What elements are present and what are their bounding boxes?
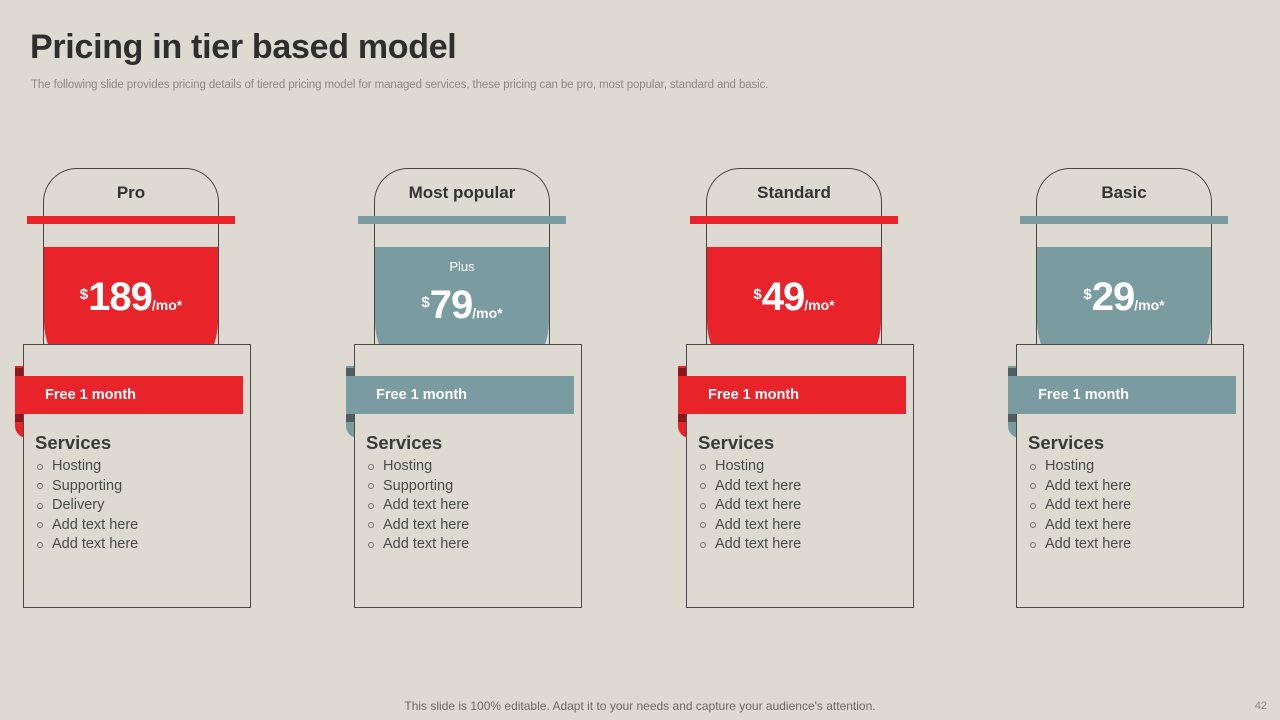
services-list: Services Hosting Supporting Delivery (35, 432, 245, 555)
footer-note: This slide is 100% editable. Adapt it to… (0, 699, 1280, 713)
price-amount: 189 (88, 275, 152, 319)
service-label: Supporting (383, 477, 453, 497)
tier-name: Standard (707, 183, 881, 203)
price-value: $29/mo* (1037, 275, 1211, 320)
pricing-card[interactable]: Basic $29/mo* Free 1 month Services (1008, 168, 1266, 608)
free-month-ribbon[interactable]: Free 1 month (1008, 376, 1236, 414)
ribbon-fold-top-icon (678, 368, 686, 376)
price-value: $79/mo* (375, 283, 549, 328)
bullet-circle-icon (700, 483, 706, 489)
services-list: Services Hosting Add text here Add text … (698, 432, 908, 555)
service-label: Hosting (383, 457, 432, 477)
bullet-circle-icon (368, 483, 374, 489)
price-currency: $ (421, 294, 429, 311)
service-label: Delivery (52, 496, 104, 516)
service-item: Hosting (366, 457, 576, 477)
free-month-ribbon[interactable]: Free 1 month (346, 376, 574, 414)
service-item: Add text here (1028, 477, 1238, 497)
ribbon-label: Free 1 month (1008, 387, 1129, 403)
service-item: Supporting (35, 477, 245, 497)
free-month-ribbon[interactable]: Free 1 month (678, 376, 906, 414)
service-label: Add text here (715, 477, 801, 497)
service-label: Add text here (1045, 516, 1131, 536)
service-label: Hosting (1045, 457, 1094, 477)
price-value: $49/mo* (707, 275, 881, 320)
service-item: Add text here (35, 535, 245, 555)
page-subtitle: The following slide provides pricing det… (31, 79, 768, 91)
service-item: Add text here (698, 496, 908, 516)
service-item: Add text here (698, 516, 908, 536)
service-label: Add text here (1045, 496, 1131, 516)
bullet-circle-icon (368, 522, 374, 528)
service-item: Hosting (35, 457, 245, 477)
page-number: 42 (1255, 700, 1267, 712)
bullet-circle-icon (37, 483, 43, 489)
bullet-circle-icon (700, 522, 706, 528)
price-value: $189/mo* (44, 275, 218, 320)
ribbon-fold-top-icon (346, 368, 354, 376)
bullet-circle-icon (1030, 503, 1036, 509)
service-label: Supporting (52, 477, 122, 497)
pricing-card[interactable]: Pro $189/mo* Free 1 month Services (15, 168, 273, 608)
price-beaker: Basic $29/mo* (1036, 168, 1212, 368)
ribbon-label: Free 1 month (15, 387, 136, 403)
pricing-card[interactable]: Standard $49/mo* Free 1 month Services (678, 168, 936, 608)
service-item: Add text here (698, 477, 908, 497)
tier-level-bar (1020, 216, 1228, 224)
ribbon-label: Free 1 month (678, 387, 799, 403)
price-period: /mo* (1134, 297, 1164, 313)
bullet-circle-icon (700, 503, 706, 509)
tier-name: Basic (1037, 183, 1211, 203)
bullet-circle-icon (700, 464, 706, 470)
bullet-circle-icon (368, 542, 374, 548)
price-currency: $ (80, 286, 88, 303)
bullet-circle-icon (1030, 522, 1036, 528)
service-item: Hosting (698, 457, 908, 477)
service-label: Add text here (383, 535, 469, 555)
price-period: /mo* (152, 297, 182, 313)
price-beaker: Standard $49/mo* (706, 168, 882, 368)
bullet-circle-icon (37, 503, 43, 509)
services-list: Services Hosting Supporting Add text her… (366, 432, 576, 555)
service-item: Add text here (366, 516, 576, 536)
tier-name: Pro (44, 183, 218, 203)
ribbon-fold-bottom-icon (346, 414, 354, 422)
service-item: Add text here (366, 535, 576, 555)
service-label: Hosting (52, 457, 101, 477)
services-heading: Services (366, 432, 576, 454)
bullet-circle-icon (1030, 483, 1036, 489)
service-label: Add text here (715, 516, 801, 536)
service-item: Add text here (1028, 516, 1238, 536)
bullet-circle-icon (1030, 464, 1036, 470)
plus-label: Plus (375, 259, 549, 274)
service-item: Add text here (1028, 496, 1238, 516)
page-title: Pricing in tier based model (30, 28, 456, 67)
pricing-cards-row: Pro $189/mo* Free 1 month Services (0, 168, 1280, 618)
price-period: /mo* (472, 305, 502, 321)
bullet-circle-icon (37, 522, 43, 528)
bullet-circle-icon (368, 464, 374, 470)
service-item: Delivery (35, 496, 245, 516)
price-amount: 49 (762, 275, 805, 319)
pricing-card[interactable]: Most popular Plus $79/mo* Free 1 month S… (346, 168, 604, 608)
ribbon-fold-bottom-icon (1008, 414, 1016, 422)
services-list: Services Hosting Add text here Add text … (1028, 432, 1238, 555)
price-currency: $ (1083, 286, 1091, 303)
service-item: Supporting (366, 477, 576, 497)
price-period: /mo* (804, 297, 834, 313)
tier-level-bar (690, 216, 898, 224)
price-beaker: Most popular Plus $79/mo* (374, 168, 550, 368)
price-amount: 79 (430, 283, 473, 327)
service-item: Hosting (1028, 457, 1238, 477)
ribbon-fold-bottom-icon (15, 414, 23, 422)
bullet-circle-icon (1030, 542, 1036, 548)
bullet-circle-icon (37, 464, 43, 470)
bullet-circle-icon (368, 503, 374, 509)
service-label: Add text here (715, 535, 801, 555)
tier-level-bar (27, 216, 235, 224)
services-heading: Services (698, 432, 908, 454)
service-label: Add text here (383, 496, 469, 516)
service-label: Add text here (52, 516, 138, 536)
price-amount: 29 (1092, 275, 1135, 319)
service-label: Add text here (715, 496, 801, 516)
service-label: Add text here (1045, 477, 1131, 497)
service-label: Add text here (52, 535, 138, 555)
price-beaker: Pro $189/mo* (43, 168, 219, 368)
ribbon-label: Free 1 month (346, 387, 467, 403)
service-label: Add text here (1045, 535, 1131, 555)
free-month-ribbon[interactable]: Free 1 month (15, 376, 243, 414)
bullet-circle-icon (700, 542, 706, 548)
service-label: Hosting (715, 457, 764, 477)
ribbon-fold-top-icon (15, 368, 23, 376)
service-item: Add text here (366, 496, 576, 516)
ribbon-fold-bottom-icon (678, 414, 686, 422)
tier-level-bar (358, 216, 566, 224)
service-item: Add text here (35, 516, 245, 536)
services-heading: Services (35, 432, 245, 454)
tier-name: Most popular (375, 183, 549, 203)
services-heading: Services (1028, 432, 1238, 454)
ribbon-fold-top-icon (1008, 368, 1016, 376)
service-item: Add text here (698, 535, 908, 555)
service-label: Add text here (383, 516, 469, 536)
price-currency: $ (753, 286, 761, 303)
bullet-circle-icon (37, 542, 43, 548)
service-item: Add text here (1028, 535, 1238, 555)
